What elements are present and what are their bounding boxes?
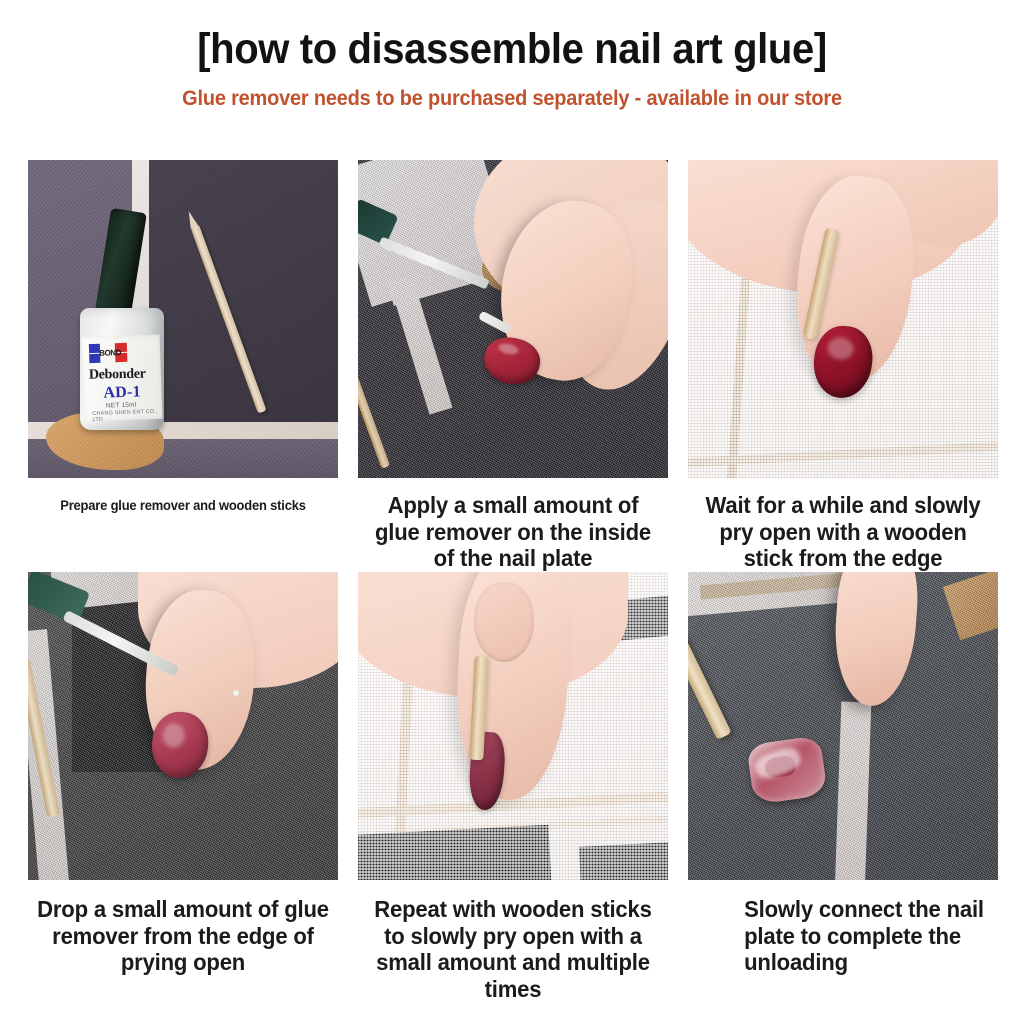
step-caption-3: Wait for a while and slowly pry open wit… [694, 478, 992, 572]
header: [how to disassemble nail art glue] Glue … [0, 0, 1024, 111]
product-net-volume: NET 15ml [106, 402, 137, 410]
step-photo-5 [358, 572, 668, 880]
infographic-page: [how to disassemble nail art glue] Glue … [0, 0, 1024, 1025]
brand-name: BOND [99, 348, 121, 358]
step-photo-1: BOND Debonder AD-1 NET 15ml CHANG SHEN E… [28, 160, 338, 478]
step-caption-1: Prepare glue remover and wooden sticks [34, 478, 332, 514]
step-caption-5: Repeat with wooden sticks to slowly pry … [364, 880, 662, 1003]
step-caption-6: Slowly connect the nail plate to complet… [694, 880, 992, 976]
dark-tile-left [358, 825, 551, 880]
step-card-3: Wait for a while and slowly pry open wit… [688, 160, 998, 572]
step-card-4: Drop a small amount of glue remover from… [28, 572, 338, 1003]
product-model: AD-1 [103, 383, 141, 402]
step-card-1: BOND Debonder AD-1 NET 15ml CHANG SHEN E… [28, 160, 338, 572]
brand-logo-icon: BOND [89, 342, 146, 364]
page-subtitle: Glue remover needs to be purchased separ… [26, 87, 999, 111]
step-photo-3 [688, 160, 998, 478]
thumb-nail [474, 582, 534, 662]
step-photo-2 [358, 160, 668, 478]
dark-tile-right [579, 841, 668, 880]
steps-grid: BOND Debonder AD-1 NET 15ml CHANG SHEN E… [28, 160, 996, 1003]
leather-dark-tile [146, 160, 338, 428]
step-card-5: Repeat with wooden sticks to slowly pry … [358, 572, 668, 1003]
step-photo-4 [28, 572, 338, 880]
product-name: Debonder [89, 367, 146, 384]
nail-plate-shadow [764, 755, 796, 779]
step-card-2: Apply a small amount of glue remover on … [358, 160, 668, 572]
page-title: [how to disassemble nail art glue] [36, 26, 988, 73]
white-strip [835, 702, 872, 880]
glue-droplet [233, 690, 239, 696]
step-card-6: Slowly connect the nail plate to complet… [688, 572, 998, 1003]
bottle-label: BOND Debonder AD-1 NET 15ml CHANG SHEN E… [82, 335, 163, 422]
step-caption-4: Drop a small amount of glue remover from… [34, 880, 332, 976]
step-photo-6 [688, 572, 998, 880]
step-caption-2: Apply a small amount of glue remover on … [364, 478, 662, 572]
